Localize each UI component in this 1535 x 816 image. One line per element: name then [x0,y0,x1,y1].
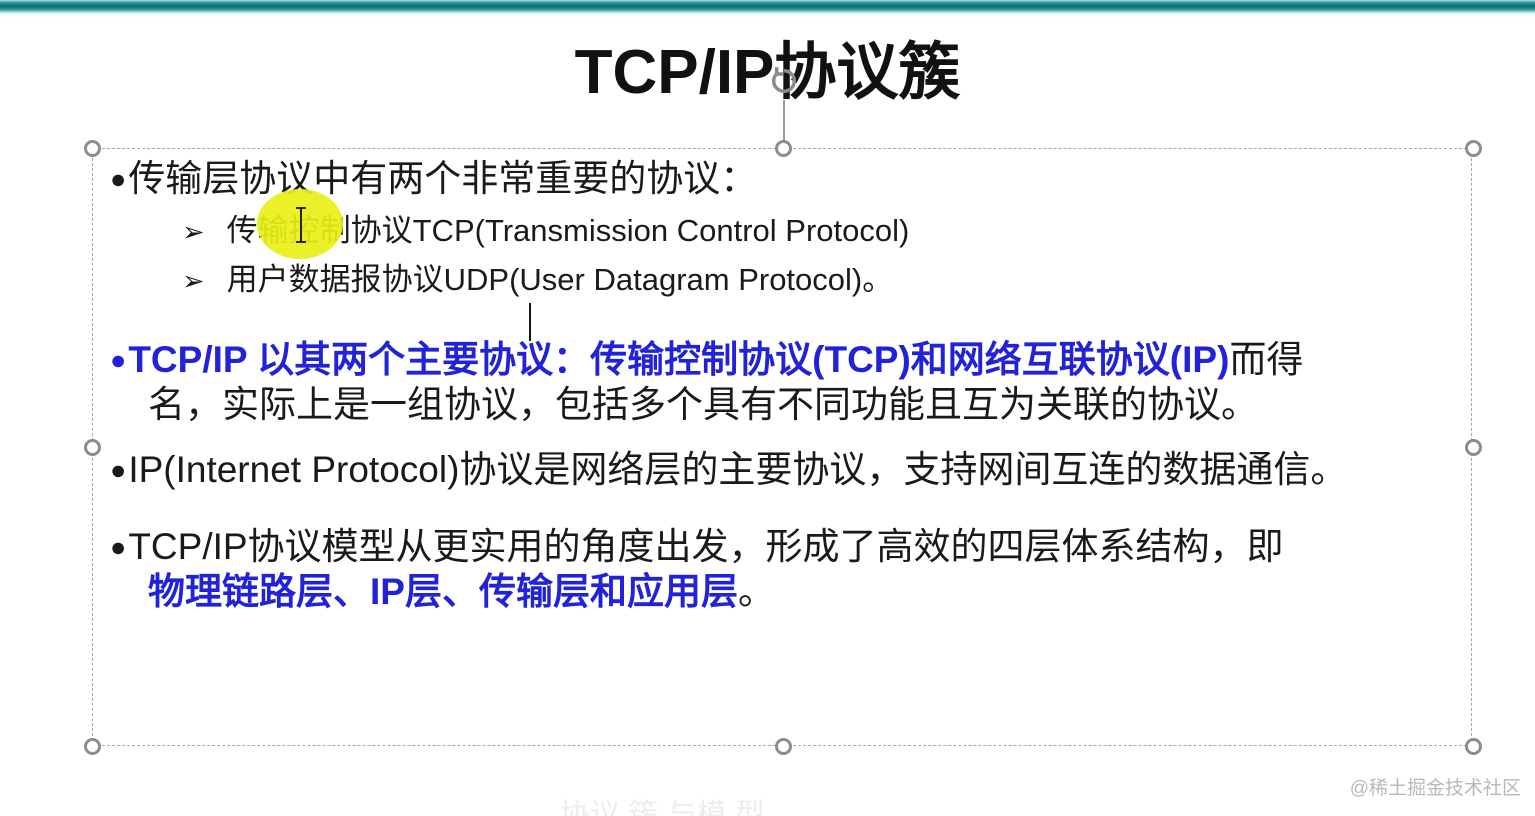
paragraph-head-text: TCP/IP协议模型从更实用的角度出发，形成了高效的四层体系结构，即 [128,526,1283,567]
paragraph-line: 物理链路层、IP层、传输层和应用层。 [110,569,1465,614]
arrow-bullet-icon: ➢ [182,219,205,246]
paragraph-emphasis-text: 物理链路层、IP层、传输层和应用层 [148,571,738,612]
top-accent-bar [0,0,1535,13]
paragraph-tcpip-naming[interactable]: ●TCP/IP 以其两个主要协议：传输控制协议(TCP)和网络互联协议(IP)而… [110,337,1465,427]
arrow-bullet-icon: ➢ [182,268,205,295]
resize-handle-top-center[interactable] [775,140,792,157]
sub-bullet-item-label-before-caret: 用户数据报协议UDP [227,264,509,295]
paragraph-tcpip-model[interactable]: ●TCP/IP协议模型从更实用的角度出发，形成了高效的四层体系结构，即 物理链路… [110,524,1465,614]
bullet-glyph-icon: ● [110,457,126,484]
paragraph-emphasis-text: TCP/IP 以其两个主要协议：传输控制协议(TCP)和网络互联协议(IP) [128,339,1229,380]
watermark: @稀土掘金技术社区 [1350,773,1521,800]
resize-handle-bottom-right[interactable] [1465,738,1482,755]
bullet-glyph-icon: ● [110,166,126,193]
bullet-item-ip-protocol[interactable]: ● IP(Internet Protocol)协议是网络层的主要协议，支持网间互… [110,451,1465,488]
paragraph-tail-text: 而得 [1229,339,1303,380]
paragraph-tail-text: 。 [738,571,775,612]
paragraph-line: ●TCP/IP 以其两个主要协议：传输控制协议(TCP)和网络互联协议(IP)而… [110,337,1465,382]
resize-handle-bottom-left[interactable] [84,738,101,755]
resize-handle-middle-right[interactable] [1465,439,1482,456]
bullet-item-label: IP(Internet Protocol)协议是网络层的主要协议，支持网间互连的… [128,451,1347,488]
paragraph-line: 名，实际上是一组协议，包括多个具有不同功能且互为关联的协议。 [110,382,1465,427]
top-accent-bar-shadow [0,13,1535,18]
bullet-glyph-icon: ● [110,345,126,375]
paragraph-line: ●TCP/IP协议模型从更实用的角度出发，形成了高效的四层体系结构，即 [110,524,1465,569]
bullet-glyph-icon: ● [110,532,126,562]
next-slide-ghost-text: 协议 簇 与模 型 [560,790,980,816]
resize-handle-middle-left[interactable] [84,439,101,456]
sub-bullet-item-udp[interactable]: ➢ 用户数据报协议UDP(User Datagram Protocol)。 [110,264,1465,295]
ibeam-cursor-icon [293,205,309,245]
sub-bullet-item-label-after-caret: (User Datagram Protocol)。 [509,264,893,295]
resize-handle-bottom-center[interactable] [775,738,792,755]
text-insertion-caret [529,303,531,341]
rotate-icon[interactable] [765,62,803,100]
bullet-item-label: 传输层协议中有两个非常重要的协议： [128,160,757,197]
resize-handle-top-left[interactable] [84,140,101,157]
resize-handle-top-right[interactable] [1465,140,1482,157]
